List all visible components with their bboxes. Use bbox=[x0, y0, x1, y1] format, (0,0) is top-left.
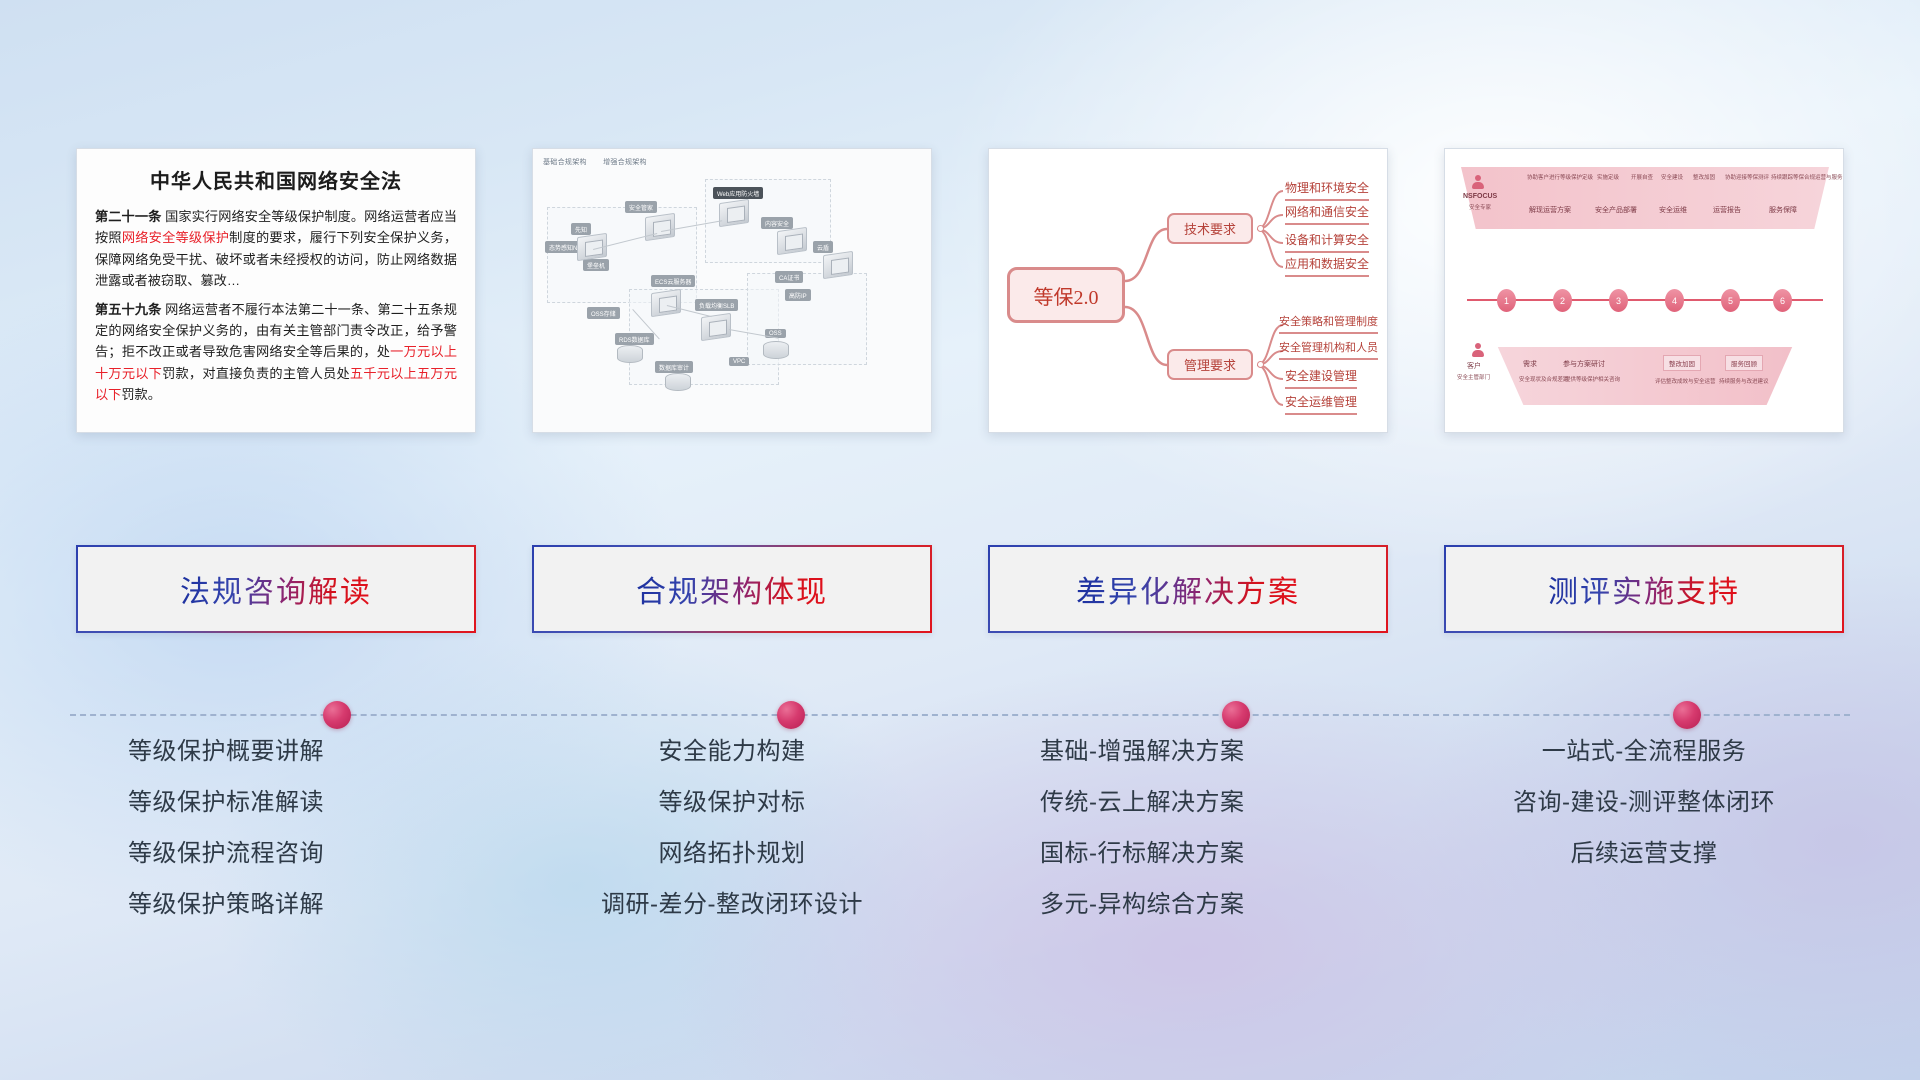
mindmap-leaf-tech-1[interactable]: 网络和通信安全 bbox=[1285, 203, 1369, 225]
list-item: 等级保护流程咨询 bbox=[128, 842, 324, 866]
roadmap-bottom-tiny-3: 持续服务与改进建议 bbox=[1719, 377, 1769, 385]
roadmap-bottom-tiny-1: 提供等级保护相关咨询 bbox=[1565, 375, 1620, 383]
roadmap-bottom-chip-0: 需求 bbox=[1523, 359, 1537, 369]
arch-pill-waf: Web应用防火墙 bbox=[713, 187, 763, 199]
arch-node-icon-4 bbox=[777, 227, 807, 255]
roadmap-step-6[interactable]: 6 bbox=[1773, 289, 1792, 312]
arch-node-icon-3 bbox=[719, 199, 749, 227]
roadmap-top-chip-2: 安全运维 bbox=[1659, 205, 1687, 215]
arch-pill-oss-store: OSS存储 bbox=[587, 307, 620, 319]
arch-pill-vpc: VPC bbox=[729, 357, 749, 366]
arch-node-icon-5 bbox=[823, 251, 853, 279]
mindmap-leaf-mgmt-1[interactable]: 安全管理机构和人员 bbox=[1279, 339, 1378, 360]
roadmap-brand-sub: 安全专家 bbox=[1469, 203, 1491, 211]
mindmap-expand-icon-mgmt[interactable] bbox=[1257, 361, 1264, 368]
list-item: 调研-差分-整改闭环设计 bbox=[601, 893, 863, 917]
roadmap-bottom-chip-2: 整改加固 bbox=[1663, 355, 1701, 371]
roadmap-step-4[interactable]: 4 bbox=[1665, 289, 1684, 312]
timeline-dot-1[interactable] bbox=[323, 701, 351, 729]
arch-pill-slb: 负载均衡SLB bbox=[695, 299, 738, 311]
roadmap-bottom-tiny-0: 安全现状及合规差距 bbox=[1519, 375, 1569, 383]
arch-pill-ca: CA证书 bbox=[775, 271, 803, 283]
list-item: 国标-行标解决方案 bbox=[1040, 842, 1245, 866]
roadmap-top-tiny-3: 安全建设 bbox=[1661, 173, 1683, 181]
card-law-text[interactable]: 中华人民共和国网络安全法 第二十一条 国家实行网络安全等级保护制度。网络运营者应… bbox=[76, 148, 476, 433]
law-seg-2-4: 罚款。 bbox=[121, 387, 161, 402]
list-item: 安全能力构建 bbox=[659, 740, 806, 764]
law-article-label-2: 第五十九条 bbox=[95, 302, 161, 317]
list-item: 等级保护策略详解 bbox=[128, 893, 324, 917]
roadmap-top-chip-4: 服务保障 bbox=[1769, 205, 1797, 215]
mindmap-leaf-mgmt-0[interactable]: 安全策略和管理制度 bbox=[1279, 313, 1378, 334]
mindmap-root-node[interactable]: 等保2.0 bbox=[1007, 267, 1125, 323]
headline-label-2: 合规架构体现 bbox=[636, 567, 828, 611]
roadmap-top-tiny-6: 持续跟踪等保合规运营与服务 bbox=[1771, 173, 1843, 181]
roadmap-top-tiny-1: 实施定级 bbox=[1597, 173, 1619, 181]
headline-row: 法规咨询解读 合规架构体现 差异化解决方案 测评实施支持 bbox=[76, 545, 1844, 633]
mindmap-leaf-mgmt-3[interactable]: 安全运维管理 bbox=[1285, 393, 1357, 415]
law-seg-2-2: 罚款，对直接负责的主管人员处 bbox=[162, 366, 350, 381]
roadmap-bottom-tiny-2: 评估整改成效与安全运营 bbox=[1655, 377, 1716, 385]
roadmap-bottom-chip-1: 参与方案研讨 bbox=[1563, 359, 1605, 369]
arch-node-icon-7 bbox=[701, 313, 731, 341]
list-item: 等级保护对标 bbox=[659, 791, 806, 815]
list-item: 多元-异构综合方案 bbox=[1040, 893, 1245, 917]
roadmap-step-1[interactable]: 1 bbox=[1497, 289, 1516, 312]
arch-pill-cloudshield: 云盾 bbox=[813, 241, 833, 253]
timeline bbox=[70, 698, 1850, 732]
roadmap-step-5[interactable]: 5 bbox=[1721, 289, 1740, 312]
headline-box-3[interactable]: 差异化解决方案 bbox=[988, 545, 1388, 633]
card-mindmap[interactable]: 等保2.0 技术要求 管理要求 物理和环境安全 网络和通信安全 设备和计算安全 … bbox=[988, 148, 1388, 433]
mindmap-leaf-tech-0[interactable]: 物理和环境安全 bbox=[1285, 179, 1369, 201]
arch-pill-bastion: 堡垒机 bbox=[583, 259, 609, 271]
arch-pill-guardian: 安全管家 bbox=[625, 201, 657, 213]
arch-header-label-0: 基础合规架构 bbox=[543, 159, 587, 166]
headline-box-1[interactable]: 法规咨询解读 bbox=[76, 545, 476, 633]
law-article-label-1: 第二十一条 bbox=[95, 209, 161, 224]
detail-lists-row: 等级保护概要讲解 等级保护标准解读 等级保护流程咨询 等级保护策略详解 安全能力… bbox=[76, 740, 1844, 944]
mindmap-leaf-tech-3[interactable]: 应用和数据安全 bbox=[1285, 255, 1369, 277]
mindmap-expand-icon-tech[interactable] bbox=[1257, 225, 1264, 232]
arch-disk-icon-1 bbox=[617, 345, 643, 363]
arch-disk-icon-2 bbox=[763, 341, 789, 359]
headline-label-1: 法规咨询解读 bbox=[180, 567, 372, 611]
timeline-dot-4[interactable] bbox=[1673, 701, 1701, 729]
arch-disk-icon-3 bbox=[665, 373, 691, 391]
roadmap-top-tiny-4: 整改加固 bbox=[1693, 173, 1715, 181]
detail-column-1: 等级保护概要讲解 等级保护标准解读 等级保护流程咨询 等级保护策略详解 bbox=[76, 740, 476, 944]
timeline-dot-2[interactable] bbox=[777, 701, 805, 729]
list-item: 传统-云上解决方案 bbox=[1040, 791, 1245, 815]
customer-person-icon bbox=[1471, 343, 1485, 357]
arch-pill-db-audit: 数据库审计 bbox=[655, 361, 693, 373]
headline-box-4[interactable]: 测评实施支持 bbox=[1444, 545, 1844, 633]
roadmap-top-chip-0: 解现运营方案 bbox=[1529, 205, 1571, 215]
expert-person-icon bbox=[1471, 175, 1485, 189]
detail-column-3: 基础-增强解决方案 传统-云上解决方案 国标-行标解决方案 多元-异构综合方案 bbox=[988, 740, 1388, 944]
mindmap-leaf-mgmt-2[interactable]: 安全建设管理 bbox=[1285, 367, 1357, 389]
slide-canvas: 中华人民共和国网络安全法 第二十一条 国家实行网络安全等级保护制度。网络运营者应… bbox=[0, 0, 1920, 1080]
list-item: 一站式-全流程服务 bbox=[1542, 740, 1747, 764]
list-item: 网络拓扑规划 bbox=[659, 842, 806, 866]
arch-header-labels: 基础合规架构 增强合规架构 bbox=[543, 157, 661, 167]
list-item: 后续运营支撑 bbox=[1571, 842, 1718, 866]
image-cards-row: 中华人民共和国网络安全法 第二十一条 国家实行网络安全等级保护制度。网络运营者应… bbox=[76, 148, 1844, 438]
arch-node-icon-2 bbox=[645, 213, 675, 241]
arch-pill-antiddos: 高防IP bbox=[785, 289, 811, 301]
headline-label-4: 测评实施支持 bbox=[1548, 567, 1740, 611]
roadmap-step-2[interactable]: 2 bbox=[1553, 289, 1572, 312]
law-paragraph-1: 第二十一条 国家实行网络安全等级保护制度。网络运营者应当按照网络安全等级保护制度… bbox=[95, 206, 457, 292]
roadmap-axis-line bbox=[1467, 299, 1823, 301]
roadmap-top-tiny-2: 开展自查 bbox=[1631, 173, 1653, 181]
mindmap-branch-management[interactable]: 管理要求 bbox=[1167, 349, 1253, 380]
list-item: 等级保护概要讲解 bbox=[128, 740, 324, 764]
headline-label-3: 差异化解决方案 bbox=[1076, 567, 1300, 611]
headline-box-2[interactable]: 合规架构体现 bbox=[532, 545, 932, 633]
roadmap-top-tiny-5: 协助迎接等保测评 bbox=[1725, 173, 1769, 181]
arch-node-icon-6 bbox=[651, 289, 681, 317]
arch-pill-content-sec: 内容安全 bbox=[761, 217, 793, 229]
detail-column-4: 一站式-全流程服务 咨询-建设-测评整体闭环 后续运营支撑 bbox=[1444, 740, 1844, 944]
arch-header-label-1: 增强合规架构 bbox=[603, 159, 647, 166]
arch-pill-ecs: ECS云服务器 bbox=[651, 275, 695, 287]
mindmap-leaf-tech-2[interactable]: 设备和计算安全 bbox=[1285, 231, 1369, 253]
roadmap-bottom-chip-3: 服务回顾 bbox=[1725, 355, 1763, 371]
roadmap-top-tiny-0: 协助客户进行等级保护定级 bbox=[1527, 173, 1593, 181]
roadmap-brand: NSFOCUS bbox=[1463, 193, 1497, 200]
detail-column-2: 安全能力构建 等级保护对标 网络拓扑规划 调研-差分-整改闭环设计 bbox=[532, 740, 932, 944]
mindmap-branch-technical[interactable]: 技术要求 bbox=[1167, 213, 1253, 244]
law-title: 中华人民共和国网络安全法 bbox=[95, 165, 457, 194]
arch-pill-xianzhi: 先知 bbox=[571, 223, 591, 235]
roadmap-bottom-left-sub: 安全主管部门 bbox=[1457, 373, 1490, 381]
law-paragraph-2: 第五十九条 网络运营者不履行本法第二十一条、第二十五条规定的网络安全保护义务的，… bbox=[95, 299, 457, 406]
list-item: 基础-增强解决方案 bbox=[1040, 740, 1245, 764]
roadmap-step-3[interactable]: 3 bbox=[1609, 289, 1628, 312]
roadmap-top-chip-3: 运营报告 bbox=[1713, 205, 1741, 215]
list-item: 咨询-建设-测评整体闭环 bbox=[1513, 791, 1775, 815]
law-seg-1-1: 网络安全等级保护 bbox=[122, 230, 229, 245]
card-roadmap[interactable]: NSFOCUS 安全专家 协助客户进行等级保护定级 实施定级 开展自查 安全建设… bbox=[1444, 148, 1844, 433]
list-item: 等级保护标准解读 bbox=[128, 791, 324, 815]
arch-pill-rds: RDS数据库 bbox=[615, 333, 654, 345]
roadmap-top-chip-1: 安全产品部署 bbox=[1595, 205, 1637, 215]
roadmap-bottom-left-label: 客户 bbox=[1467, 361, 1481, 371]
card-architecture-diagram[interactable]: 基础合规架构 增强合规架构 Web应用防火墙 安全管家 先知 态势感知NC 堡垒… bbox=[532, 148, 932, 433]
timeline-dot-3[interactable] bbox=[1222, 701, 1250, 729]
